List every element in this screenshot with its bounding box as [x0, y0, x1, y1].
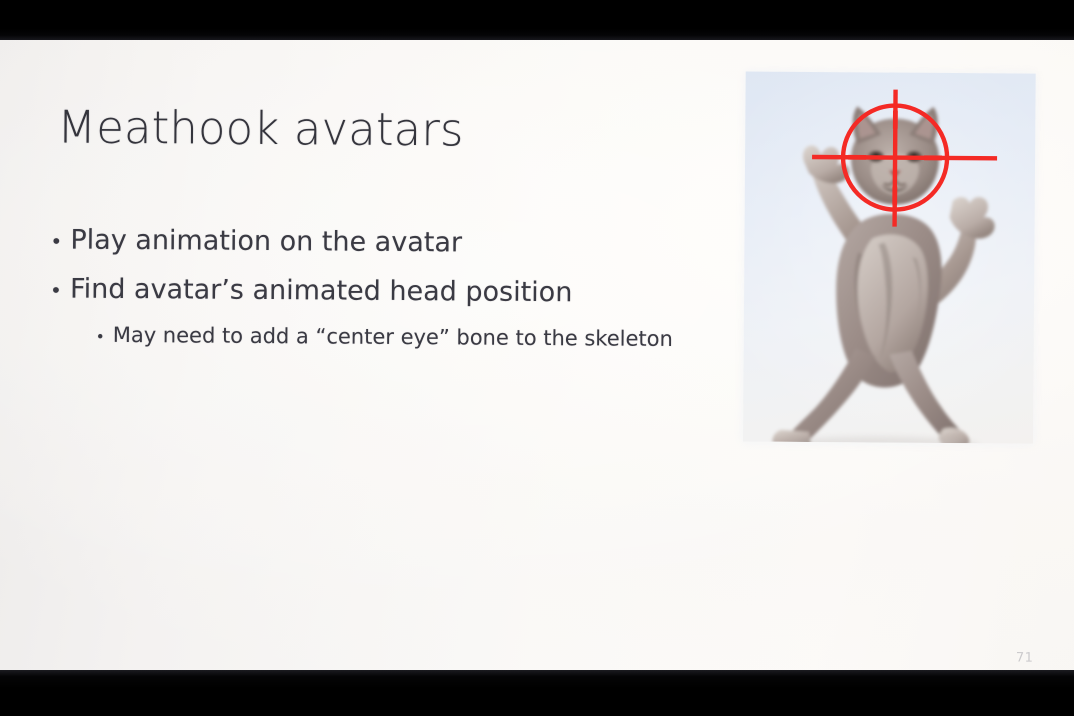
bullet-marker-icon: •	[50, 231, 70, 251]
bullet-text: Play animation on the avatar	[70, 225, 462, 259]
page-title: Meathook avatars	[57, 100, 464, 156]
sub-bullet-marker-icon: •	[96, 328, 113, 346]
bullet-text: Find avatar’s animated head position	[70, 274, 573, 309]
bullet-list: • Play animation on the avatar • Find av…	[50, 224, 751, 351]
bullet-item-1: • Play animation on the avatar	[50, 224, 750, 260]
bullet-item-2: • Find avatar’s animated head position	[50, 273, 750, 309]
slide-surface: Meathook avatars • Play animation on the…	[0, 28, 1074, 688]
bullet-item-3-sub: • May need to add a “center eye” bone to…	[96, 323, 750, 352]
crosshair-reticle-icon	[743, 72, 1036, 444]
bullet-marker-icon: •	[50, 280, 70, 300]
letterbox-top	[0, 0, 1074, 40]
letterbox-bottom	[0, 670, 1074, 716]
slide-number: 71	[1016, 651, 1034, 666]
projected-slide-photo: Meathook avatars • Play animation on the…	[0, 0, 1074, 716]
kitten-crosshair-image	[743, 72, 1036, 444]
sub-bullet-text: May need to add a “center eye” bone to t…	[113, 323, 673, 351]
